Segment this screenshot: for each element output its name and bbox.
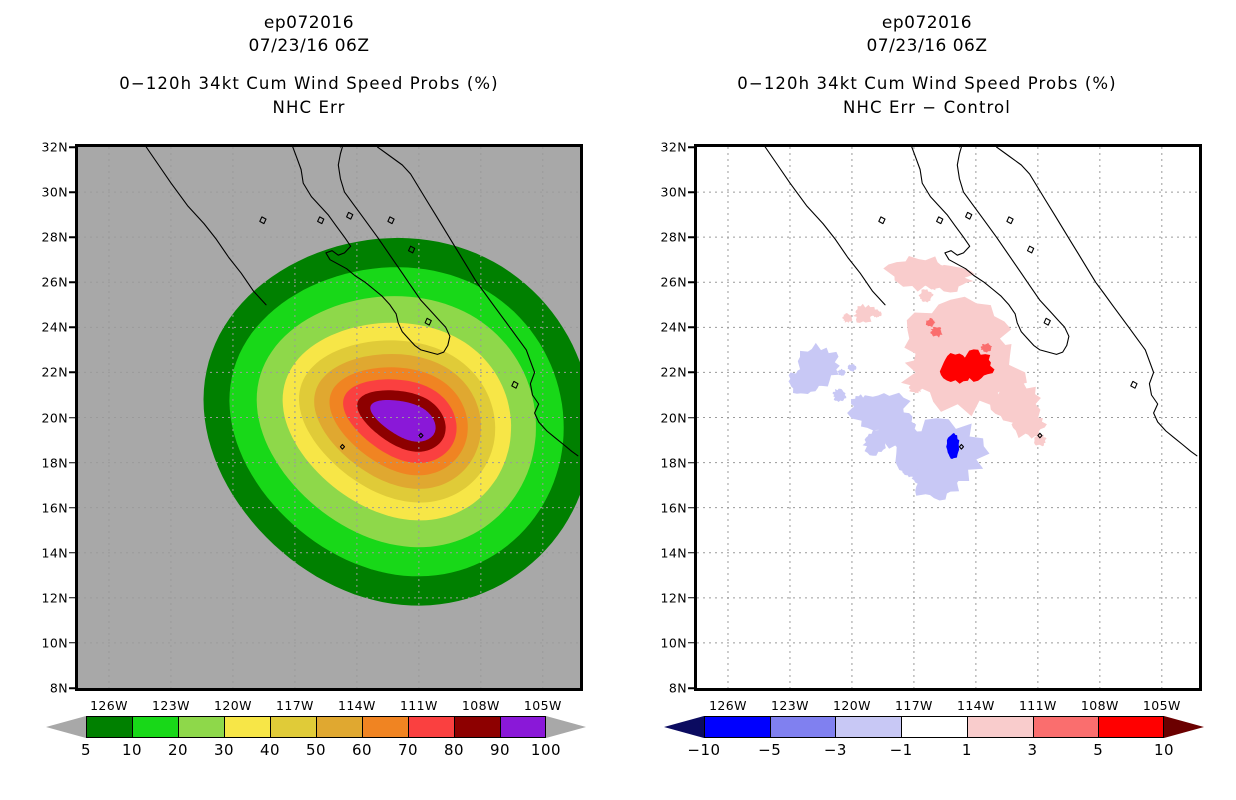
y-tick [688, 146, 694, 148]
colorbar-swatch [901, 716, 967, 738]
panel-left-titles: ep072016 07/23/16 06Z 0−120h 34kt Cum Wi… [0, 0, 618, 119]
pos-patch-small1 [919, 289, 934, 302]
y-axis-label: 8N [50, 681, 68, 696]
colorbar-swatch [86, 716, 132, 738]
colorbar-tick-label: 100 [531, 741, 561, 759]
colorbar-swatch [316, 716, 362, 738]
colorbar-swatch [500, 716, 546, 738]
y-axis-label: 8N [669, 681, 687, 696]
y-tick [688, 462, 694, 464]
y-tick [69, 462, 75, 464]
panel-subtitle-left: NHC Err [0, 97, 618, 119]
y-axis-label: 32N [661, 140, 687, 155]
datetime-right: 07/23/16 06Z [618, 35, 1236, 57]
y-tick [688, 327, 694, 329]
x-axis-label: 114W [338, 698, 376, 713]
y-axis-label: 16N [42, 500, 68, 515]
colorbar-tick-label: −1 [890, 741, 913, 759]
pos-patch-west2 [842, 313, 852, 323]
x-axis-label: 117W [895, 698, 933, 713]
y-tick [688, 417, 694, 419]
x-axis-label: 117W [276, 698, 314, 713]
colorbar-tick-label: 90 [490, 741, 510, 759]
colorbar-swatch [178, 716, 224, 738]
colorbar-swatch [454, 716, 500, 738]
map-contours-left [78, 147, 580, 688]
difference-patches [789, 256, 1047, 501]
y-axis-label: 14N [661, 545, 687, 560]
y-tick [69, 236, 75, 238]
colorbar-swatch [362, 716, 408, 738]
y-axis-label: 12N [42, 590, 68, 605]
map-contours-right [697, 147, 1199, 688]
colorbar-arrow-left [46, 716, 86, 738]
colorbar-swatch [224, 716, 270, 738]
x-axis-label: 105W [1143, 698, 1181, 713]
map-plot-difference: 8N10N12N14N16N18N20N22N24N26N28N30N32N12… [694, 144, 1202, 691]
y-axis-label: 20N [42, 410, 68, 425]
y-tick [69, 687, 75, 689]
y-tick [688, 191, 694, 193]
y-tick [688, 687, 694, 689]
y-axis-label: 18N [42, 455, 68, 470]
variable-title-right: 0−120h 34kt Cum Wind Speed Probs (%) [618, 73, 1236, 95]
panel-right-titles: ep072016 07/23/16 06Z 0−120h 34kt Cum Wi… [618, 0, 1236, 119]
map-frame-left [75, 144, 583, 691]
y-tick [69, 642, 75, 644]
colorbar-swatch [704, 716, 770, 738]
variable-title-left: 0−120h 34kt Cum Wind Speed Probs (%) [0, 73, 618, 95]
colorbar-tick-label: −10 [687, 741, 720, 759]
y-tick [69, 597, 75, 599]
y-axis-label: 18N [661, 455, 687, 470]
y-axis-label: 20N [661, 410, 687, 425]
colorbar-arrow-left [664, 716, 704, 738]
x-axis-label: 105W [524, 698, 562, 713]
datetime-left: 07/23/16 06Z [0, 35, 618, 57]
y-tick [688, 552, 694, 554]
storm-id-right: ep072016 [618, 12, 1236, 34]
y-tick [688, 642, 694, 644]
y-tick [69, 552, 75, 554]
colorbar-tick-label: 50 [306, 741, 326, 759]
colorbar-tick-label: 1 [962, 741, 972, 759]
y-tick [688, 507, 694, 509]
wind-speed-probability-figure: ep072016 07/23/16 06Z 0−120h 34kt Cum Wi… [0, 0, 1236, 800]
colorbar-swatch [132, 716, 178, 738]
x-axis-label: 111W [1019, 698, 1057, 713]
colorbar-arrow-right [1164, 716, 1204, 738]
y-axis-label: 24N [42, 320, 68, 335]
y-axis-label: 12N [661, 590, 687, 605]
map-frame-right [694, 144, 1202, 691]
neg-patch-tiny2 [837, 369, 846, 376]
x-axis-label: 114W [957, 698, 995, 713]
y-tick [688, 372, 694, 374]
colorbar-swatch [270, 716, 316, 738]
colorbar-swatch [408, 716, 454, 738]
x-axis-label: 120W [833, 698, 871, 713]
colorbar-tick-label: 70 [398, 741, 418, 759]
y-axis-label: 30N [661, 185, 687, 200]
y-tick [69, 282, 75, 284]
y-axis-label: 28N [661, 230, 687, 245]
colorbar-tick-label: 30 [214, 741, 234, 759]
panel-nhc-err-minus-control: ep072016 07/23/16 06Z 0−120h 34kt Cum Wi… [618, 0, 1236, 800]
colorbar-swatch [835, 716, 901, 738]
y-axis-label: 28N [42, 230, 68, 245]
colorbar-tick-label: 5 [81, 741, 91, 759]
storm-id-left: ep072016 [0, 12, 618, 34]
colorbar-tick-label: 10 [122, 741, 142, 759]
panel-nhc-err: ep072016 07/23/16 06Z 0−120h 34kt Cum Wi… [0, 0, 618, 800]
x-axis-label: 123W [771, 698, 809, 713]
y-axis-label: 10N [661, 635, 687, 650]
y-tick [69, 191, 75, 193]
colorbar-swatch [770, 716, 836, 738]
panel-subtitle-right: NHC Err − Control [618, 97, 1236, 119]
y-axis-label: 26N [42, 275, 68, 290]
y-axis-label: 26N [661, 275, 687, 290]
y-tick [69, 146, 75, 148]
colorbar-tick-label: 60 [352, 741, 372, 759]
y-axis-label: 24N [661, 320, 687, 335]
probability-contours [204, 238, 581, 606]
colorbar-tick-label: 80 [444, 741, 464, 759]
colorbar-tick-label: 5 [1093, 741, 1103, 759]
neg-patch-nw-small [833, 389, 847, 402]
y-axis-label: 22N [661, 365, 687, 380]
colorbar-tick-label: −3 [824, 741, 847, 759]
y-tick [69, 417, 75, 419]
colorbar-swatch [1098, 716, 1164, 738]
colorbar-tick-label: 3 [1028, 741, 1038, 759]
probability-colorbar: 5102030405060708090100 [46, 716, 586, 780]
colorbar-tick-label: −5 [758, 741, 781, 759]
colorbar-swatch [1033, 716, 1099, 738]
x-axis-label: 123W [152, 698, 190, 713]
y-axis-label: 16N [661, 500, 687, 515]
colorbar-tick-label: 10 [1154, 741, 1174, 759]
colorbar-arrow-right [546, 716, 586, 738]
neg-patch-tiny1 [848, 364, 857, 372]
x-axis-label: 126W [709, 698, 747, 713]
difference-colorbar: −10−5−3−113510 [664, 716, 1204, 780]
y-tick [688, 282, 694, 284]
colorbar-tick-label: 40 [260, 741, 280, 759]
y-tick [688, 236, 694, 238]
colorbar-tick-label: 20 [168, 741, 188, 759]
x-axis-label: 111W [400, 698, 438, 713]
gridlines [697, 147, 1199, 688]
y-axis-label: 14N [42, 545, 68, 560]
y-tick [69, 507, 75, 509]
map-plot-nhc-err: 8N10N12N14N16N18N20N22N24N26N28N30N32N12… [75, 144, 583, 691]
x-axis-label: 108W [1081, 698, 1119, 713]
x-axis-label: 126W [90, 698, 128, 713]
y-axis-label: 32N [42, 140, 68, 155]
coastline [765, 147, 1197, 456]
y-axis-label: 10N [42, 635, 68, 650]
y-axis-label: 22N [42, 365, 68, 380]
y-tick [69, 327, 75, 329]
y-tick [688, 597, 694, 599]
y-axis-label: 30N [42, 185, 68, 200]
x-axis-label: 108W [462, 698, 500, 713]
y-tick [69, 372, 75, 374]
x-axis-label: 120W [214, 698, 252, 713]
colorbar-swatch [967, 716, 1033, 738]
